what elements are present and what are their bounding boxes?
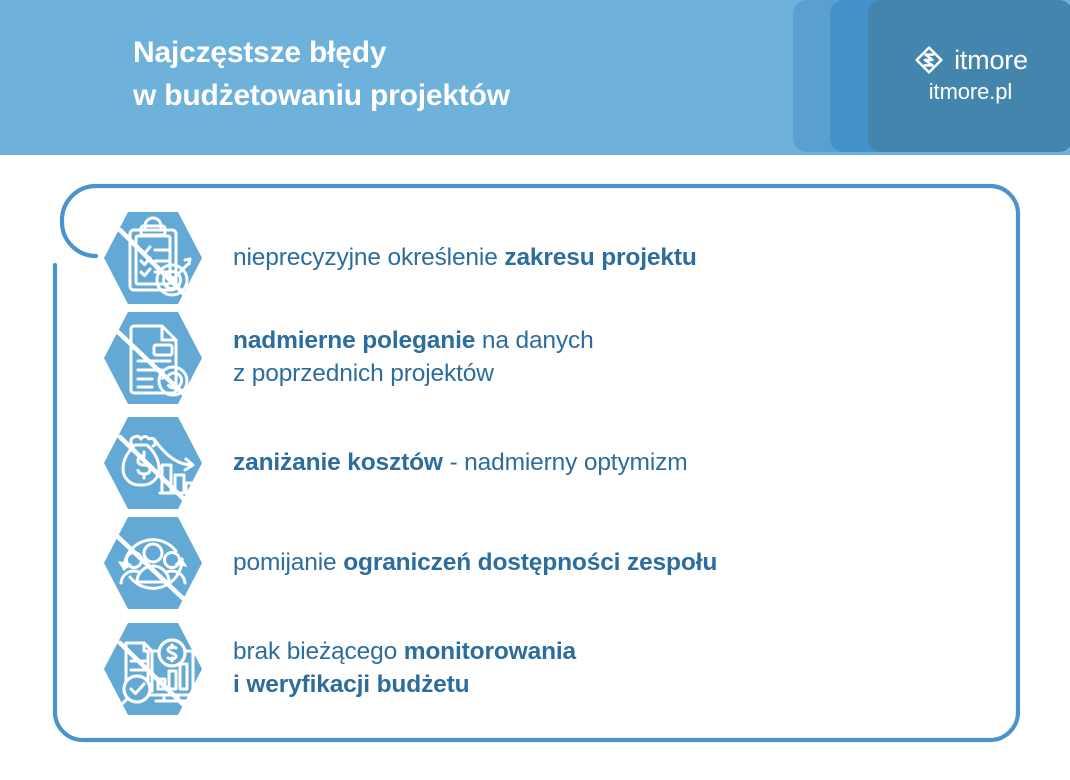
document-history-arrow-crossed-out-icon	[100, 308, 206, 408]
text-segment-bold: ograniczeń dostępności zespołu	[343, 549, 717, 576]
text-segment: pomijanie	[233, 549, 343, 576]
header-band: Najczęstsze błędy w budżetowaniu projekt…	[0, 0, 1070, 155]
text-segment: - nadmierny optymizm	[443, 449, 688, 476]
list-item: nadmierne poleganie na danychz poprzedni…	[100, 308, 1000, 408]
monitor-budget-chart-magnifier-crossed-out-icon	[100, 619, 206, 719]
page-title-line-2: w budżetowaniu projektów	[133, 75, 773, 118]
text-segment: nieprecyzyjne określenie	[233, 244, 504, 271]
brand-domain: itmore.pl	[929, 81, 1012, 103]
list-item-label: brak bieżącego monitorowaniai weryfikacj…	[233, 636, 576, 702]
infographic-canvas: Najczęstsze błędy w budżetowaniu projekt…	[0, 0, 1070, 780]
team-group-circular-arrows-crossed-out-icon	[100, 513, 206, 613]
list-item-label: pomijanie ograniczeń dostępności zespołu	[233, 547, 717, 580]
brand-logo: itmore itmore.pl	[868, 44, 1070, 103]
text-segment-bold: nadmierne poleganie	[233, 327, 475, 354]
list-item-label: nieprecyzyjne określenie zakresu projekt…	[233, 242, 697, 275]
page-title: Najczęstsze błędy w budżetowaniu projekt…	[133, 32, 773, 117]
text-segment-bold: monitorowania	[404, 638, 576, 665]
text-segment: na danych	[475, 327, 593, 354]
list-item-label: zaniżanie kosztów - nadmierny optymizm	[233, 447, 687, 480]
brand-logo-row: itmore	[913, 44, 1028, 76]
brand-name: itmore	[954, 47, 1028, 74]
list-item: pomijanie ograniczeń dostępności zespołu	[100, 513, 1000, 613]
list-item: brak bieżącego monitorowaniai weryfikacj…	[100, 617, 1000, 721]
text-segment: z poprzednich projektów	[233, 360, 494, 387]
text-segment-bold: zaniżanie kosztów	[233, 449, 443, 476]
mistakes-list: nieprecyzyjne określenie zakresu projekt…	[0, 160, 1070, 760]
list-item: zaniżanie kosztów - nadmierny optymizm	[100, 413, 1000, 513]
clipboard-checklist-target-crossed-out-icon	[100, 208, 206, 308]
text-segment-bold: zakresu projektu	[504, 244, 696, 271]
list-item: nieprecyzyjne określenie zakresu projekt…	[100, 208, 1000, 308]
text-segment-bold: i weryfikacji budżetu	[233, 671, 469, 698]
page-title-line-1: Najczęstsze błędy	[133, 36, 386, 69]
list-item-label: nadmierne poleganie na danychz poprzedni…	[233, 325, 594, 391]
text-segment: brak bieżącego	[233, 638, 404, 665]
money-bag-declining-chart-crossed-out-icon	[100, 413, 206, 513]
itmore-diamond-logo-icon	[913, 44, 945, 76]
